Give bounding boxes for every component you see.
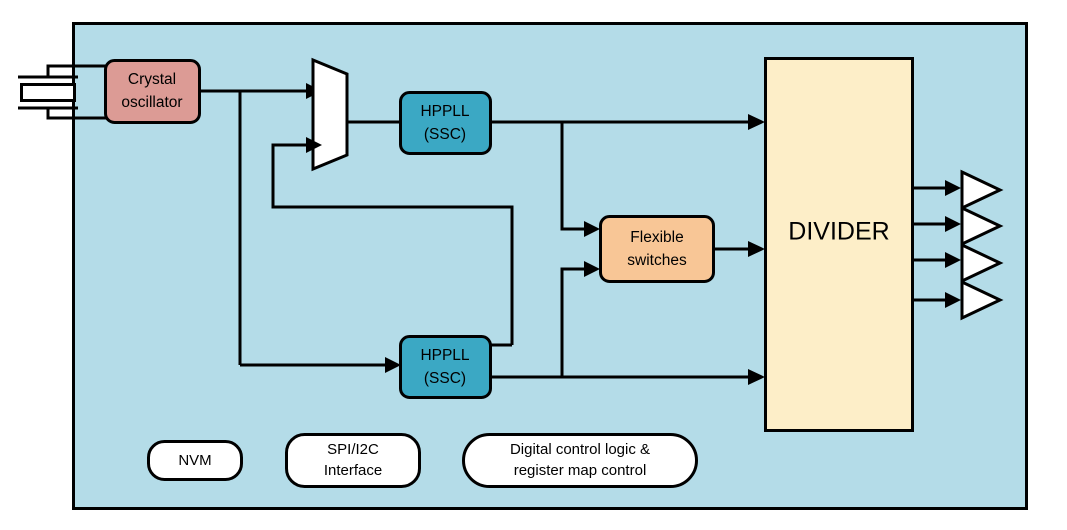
crystal-oscillator-block[interactable]: Crystal oscillator: [106, 61, 200, 123]
divider-label: DIVIDER: [788, 218, 889, 246]
digital-control-logic-block[interactable]: Digital control logic & register map con…: [464, 435, 697, 487]
flexible-switches-label-line1: Flexible: [630, 229, 683, 246]
hppll-bottom-label-line2: (SSC): [424, 370, 466, 387]
hppll-top-label-line1: HPPLL: [420, 103, 469, 120]
block-diagram-svg: Crystal oscillator HPPLL: [0, 0, 1067, 530]
hppll-top-label-line2: (SSC): [424, 126, 466, 143]
crystal-oscillator-label-line1: Crystal: [128, 71, 176, 88]
flexible-switches-block[interactable]: Flexible switches: [601, 217, 714, 282]
digital-control-label-line1: Digital control logic &: [510, 441, 650, 458]
divider-block[interactable]: DIVIDER: [766, 59, 913, 431]
spi-i2c-label-line2: Interface: [324, 462, 382, 479]
hppll-top-block[interactable]: HPPLL (SSC): [401, 93, 491, 154]
crystal-oscillator-label-line2: oscillator: [121, 94, 182, 111]
hppll-bottom-label-line1: HPPLL: [420, 347, 469, 364]
digital-control-label-line2: register map control: [514, 462, 647, 479]
spi-i2c-label-line1: SPI/I2C: [327, 441, 379, 458]
nvm-block[interactable]: NVM: [149, 442, 242, 480]
mux-block[interactable]: [313, 60, 347, 169]
hppll-bottom-block[interactable]: HPPLL (SSC): [401, 337, 491, 398]
block-diagram-canvas: Crystal oscillator HPPLL: [0, 0, 1067, 530]
flexible-switches-label-line2: switches: [627, 252, 687, 269]
nvm-label: NVM: [178, 452, 211, 469]
spi-i2c-interface-block[interactable]: SPI/I2C Interface: [287, 435, 420, 487]
